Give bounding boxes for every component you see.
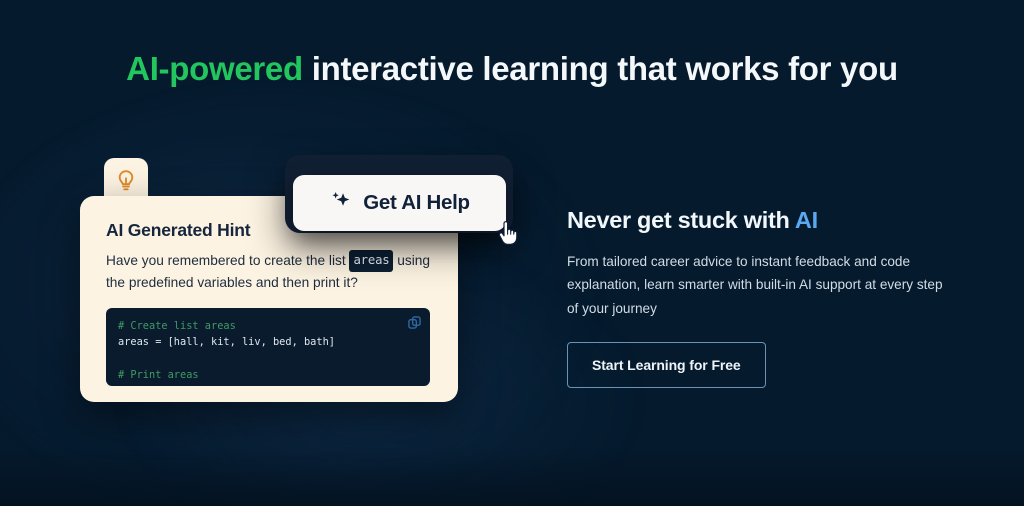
right-title-main: Never get stuck with bbox=[567, 207, 795, 233]
code-line-1: areas = [hall, kit, liv, bed, bath] bbox=[118, 336, 335, 348]
hint-title: AI Generated Hint bbox=[106, 220, 250, 241]
code-comment-1: # Create list areas bbox=[118, 320, 236, 332]
get-ai-help-button[interactable]: Get AI Help bbox=[293, 175, 506, 231]
right-panel-title: Never get stuck with AI bbox=[567, 207, 967, 234]
variable-chip-areas: areas bbox=[349, 250, 393, 272]
code-line-2: (areas) bbox=[149, 385, 192, 386]
lightbulb-icon bbox=[115, 169, 137, 198]
headline-accent: AI-powered bbox=[126, 50, 303, 87]
right-title-accent: AI bbox=[795, 207, 818, 233]
code-keyword-print: print bbox=[118, 385, 149, 386]
code-content: # Create list areas areas = [hall, kit, … bbox=[106, 308, 430, 386]
hero-section: AI-powered interactive learning that wor… bbox=[0, 0, 1024, 506]
copy-icon[interactable] bbox=[408, 316, 421, 334]
headline-rest: interactive learning that works for you bbox=[303, 50, 898, 87]
bottom-gradient-overlay bbox=[0, 446, 1024, 506]
page-title: AI-powered interactive learning that wor… bbox=[0, 48, 1024, 89]
get-ai-help-label: Get AI Help bbox=[363, 191, 469, 215]
right-panel-description: From tailored career advice to instant f… bbox=[567, 250, 952, 320]
code-comment-2: # Print areas bbox=[118, 369, 199, 381]
hint-description: Have you remembered to create the list a… bbox=[106, 250, 440, 293]
start-learning-button[interactable]: Start Learning for Free bbox=[567, 342, 766, 388]
sparkle-icon bbox=[329, 188, 354, 218]
right-content-panel: Never get stuck with AI From tailored ca… bbox=[567, 207, 967, 388]
hint-text-before: Have you remembered to create the list bbox=[106, 253, 349, 268]
pointer-hand-cursor bbox=[498, 221, 519, 250]
hint-card-tab bbox=[104, 158, 148, 200]
code-snippet-block: # Create list areas areas = [hall, kit, … bbox=[106, 308, 430, 386]
